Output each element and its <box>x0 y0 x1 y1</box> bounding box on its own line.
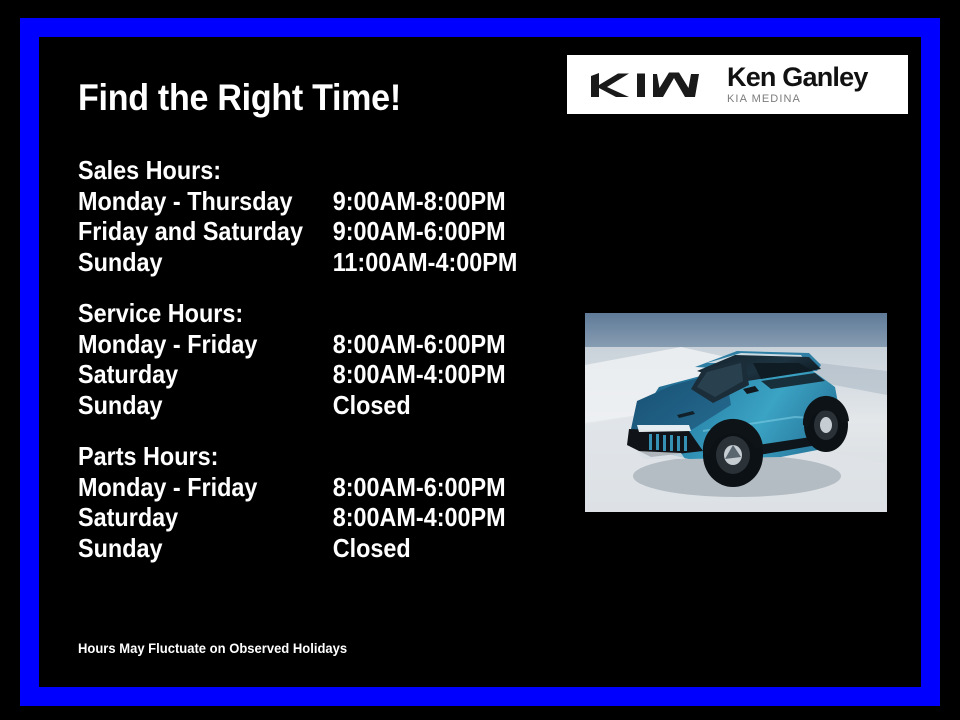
hours-row-value: 9:00AM-6:00PM <box>333 216 506 247</box>
hours-block-sales: Sales Hours: Monday - Thursday 9:00AM-8:… <box>78 155 548 277</box>
hours-row-value: Closed <box>333 390 411 421</box>
hours-row: Saturday 8:00AM-4:00PM <box>78 502 501 533</box>
hours-row: Sunday 11:00AM-4:00PM <box>78 247 501 278</box>
hours-heading: Service Hours: <box>78 298 501 329</box>
dealer-name: Ken Ganley <box>727 63 898 92</box>
hours-heading: Parts Hours: <box>78 441 501 472</box>
hours-row: Monday - Friday 8:00AM-6:00PM <box>78 329 501 360</box>
dealer-name-group: Ken Ganley KIA MEDINA <box>727 63 898 107</box>
slide-root: Find the Right Time! Ken Ganley KIA MEDI… <box>0 0 960 720</box>
hours-row-label: Sunday <box>78 390 333 421</box>
hours-row-value: 11:00AM-4:00PM <box>333 247 518 278</box>
hours-row-label: Monday - Friday <box>78 472 333 503</box>
hours-row: Friday and Saturday 9:00AM-6:00PM <box>78 216 501 247</box>
dealer-subtitle: KIA MEDINA <box>727 93 898 106</box>
hours-row-label: Sunday <box>78 247 333 278</box>
hours-row-value: 8:00AM-4:00PM <box>333 359 506 390</box>
hours-list: Sales Hours: Monday - Thursday 9:00AM-8:… <box>78 155 548 563</box>
hours-row: Saturday 8:00AM-4:00PM <box>78 359 501 390</box>
kia-logo-icon <box>581 70 709 100</box>
hours-row-label: Monday - Thursday <box>78 186 333 217</box>
hours-row-label: Saturday <box>78 359 333 390</box>
hours-row-label: Sunday <box>78 533 333 564</box>
hours-block-service: Service Hours: Monday - Friday 8:00AM-6:… <box>78 298 548 420</box>
kia-ev9-suv-photo <box>585 313 887 512</box>
hours-row-label: Friday and Saturday <box>78 216 333 247</box>
hours-row-value: 8:00AM-4:00PM <box>333 502 506 533</box>
hours-row-value: Closed <box>333 533 411 564</box>
footer-disclaimer: Hours May Fluctuate on Observed Holidays <box>78 640 347 657</box>
hours-row: Monday - Thursday 9:00AM-8:00PM <box>78 186 501 217</box>
hours-row: Sunday Closed <box>78 533 501 564</box>
hours-row: Sunday Closed <box>78 390 501 421</box>
dealer-logo-card: Ken Ganley KIA MEDINA <box>567 55 908 114</box>
hours-heading: Sales Hours: <box>78 155 501 186</box>
hours-row: Monday - Friday 8:00AM-6:00PM <box>78 472 501 503</box>
hours-row-label: Monday - Friday <box>78 329 333 360</box>
hours-row-value: 8:00AM-6:00PM <box>333 472 506 503</box>
hours-row-label: Saturday <box>78 502 333 533</box>
page-title: Find the Right Time! <box>78 76 401 120</box>
hours-row-value: 8:00AM-6:00PM <box>333 329 506 360</box>
hours-block-parts: Parts Hours: Monday - Friday 8:00AM-6:00… <box>78 441 548 563</box>
hours-row-value: 9:00AM-8:00PM <box>333 186 506 217</box>
slide-content: Find the Right Time! Ken Ganley KIA MEDI… <box>0 0 960 720</box>
